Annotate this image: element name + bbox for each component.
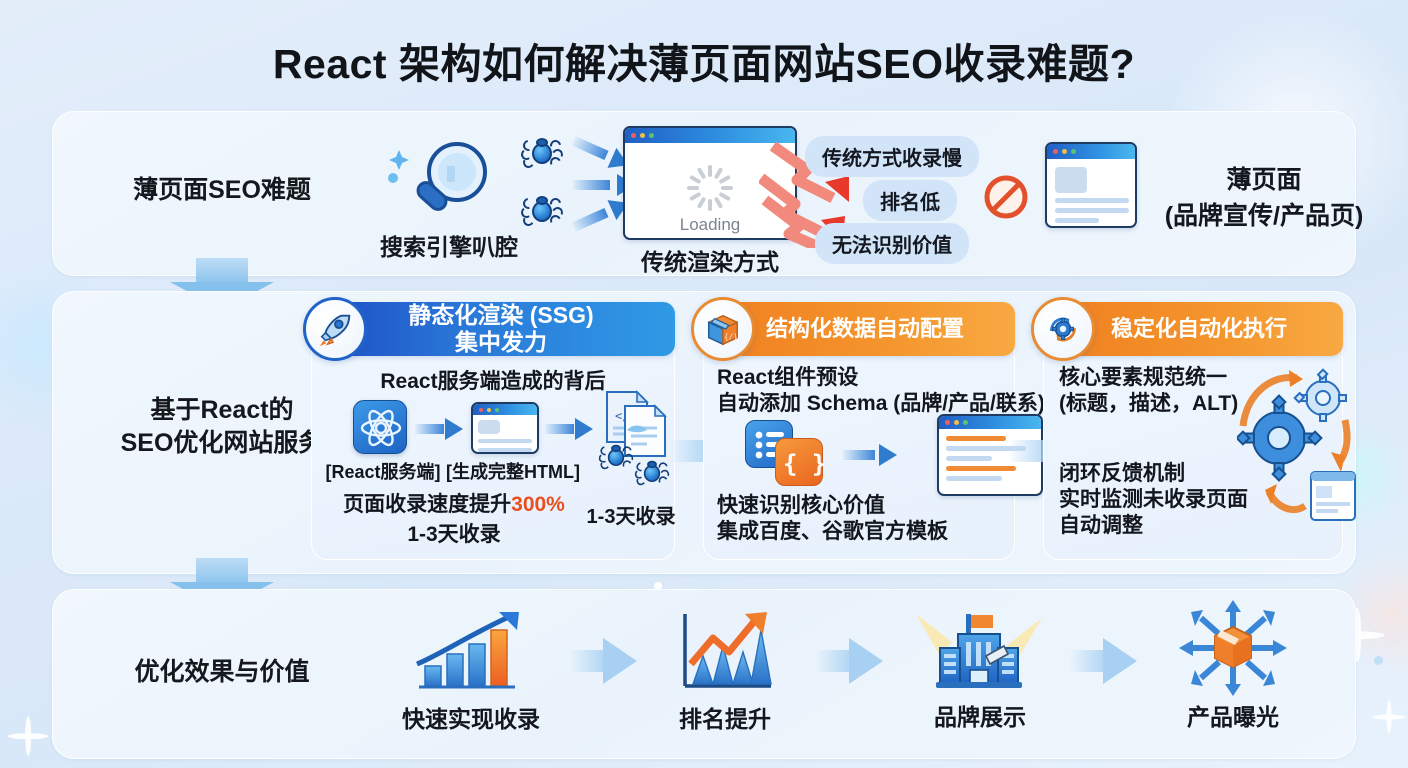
status-badge: 无法识别价值 (815, 223, 969, 264)
svg-text:{/}: {/} (724, 332, 738, 341)
thin-page-label-line1: 薄页面 (1149, 160, 1379, 196)
sparkle-decoration (1372, 700, 1406, 734)
package-box-icon: {/} (691, 297, 755, 361)
panel-structured-data-foot-line1: 快速识别核心价值 (717, 492, 885, 520)
panel-structured-data-header: 结构化数据自动配置 (715, 302, 1015, 356)
step-arrow-icon (545, 418, 593, 440)
panel-structured-data-heading-line1: React组件预设 (717, 364, 858, 392)
step-arrow-icon (843, 444, 897, 466)
panel-automation-foot-line2: 实时监测未收录页面 (1059, 486, 1248, 514)
thin-page-label: 薄页面 (品牌宣传/产品页) (1149, 160, 1379, 232)
panel-automation-header-line1: 稳定化自动化执行 (1111, 316, 1287, 341)
panel-ssg-metric-value: 300% (511, 493, 565, 516)
panel-structured-data-header-line1: 结构化数据自动配置 (766, 316, 964, 341)
panel-ssg-metric-sub: 1-3天收录 (319, 518, 589, 548)
panel-ssg-step2-label: [生成完整HTML] (439, 460, 587, 484)
panel-ssg-header: 静态化渲染 (SSG) 集中发力 (327, 302, 675, 356)
panel-automation-heading-line1: 核心要素规范统一 (1059, 364, 1227, 392)
panel-automation-heading-line2: (标题，描述，ALT) (1059, 390, 1238, 418)
generated-html-browser-icon (471, 402, 539, 454)
page-title: React 架构如何解决薄页面网站SEO收录难题? (0, 30, 1408, 90)
sparkle-decoration (8, 716, 48, 756)
json-braces-icon: { } (775, 438, 823, 486)
building-spotlight-icon (883, 602, 1077, 694)
outcome-label: 排名提升 (639, 700, 811, 734)
spider-icon (599, 441, 633, 472)
flow-arrow-right-icon (817, 638, 883, 684)
panel-automation-header: 稳定化自动化执行 (1055, 302, 1343, 356)
panel-ssg-metric: 页面收录速度提升300% 1-3天收录 (319, 488, 589, 548)
outcome-ranking: 排名提升 (639, 608, 811, 734)
panel-ssg-step1-label: [React服务端] (325, 460, 441, 484)
panel-ssg-header-line2: 集中发力 (455, 329, 547, 355)
prohibition-icon (983, 174, 1029, 220)
panel-automation-foot-line1: 闭环反馈机制 (1059, 460, 1185, 488)
row2-label-line2: SEO优化网站服务 (121, 429, 324, 457)
thin-page-browser-icon (1045, 142, 1137, 228)
bar-chart-rising-icon (379, 608, 563, 692)
outcome-label: 品牌展示 (883, 698, 1077, 732)
flow-arrow-right-icon (571, 638, 637, 684)
panel-ssg-header-line1: 静态化渲染 (SSG) (408, 302, 593, 328)
magnifier-icon (383, 136, 513, 228)
panel-structured-data-foot-line2: 集成百度、谷歌官方模板 (717, 518, 948, 546)
step-arrow-icon (415, 418, 463, 440)
flow-arrow-right-icon (1071, 638, 1137, 684)
thin-page-label-line2: (品牌宣传/产品页) (1149, 196, 1379, 232)
outcome-product-exposure: 产品曝光 (1135, 600, 1331, 732)
row-react-seo-service: 基于React的 SEO优化网站服务 静态化渲染 (SSG) 集中发力 Reac… (52, 291, 1356, 574)
panel-automation-foot-line3: 自动调整 (1059, 512, 1143, 540)
browser-caption: 传统渲染方式 (623, 243, 797, 277)
loading-spinner-icon (687, 165, 733, 211)
dot-decoration (1374, 656, 1383, 665)
spider-icon (635, 457, 669, 488)
outcome-label: 产品曝光 (1135, 698, 1331, 732)
loading-text: Loading (680, 215, 741, 235)
panel-ssg-side-note: 1-3天收录 (583, 504, 679, 531)
search-engine-label: 搜索引擎叭腔 (359, 228, 539, 262)
row2-label-line1: 基于React的 (150, 396, 293, 424)
outcome-label: 快速实现收录 (379, 700, 563, 734)
box-radiating-icon (1135, 600, 1331, 696)
panel-ssg-metric-prefix: 页面收录速度提升 (343, 493, 511, 516)
bar-chart-arrow-icon (639, 608, 811, 692)
rocket-icon (303, 297, 367, 361)
status-badge: 排名低 (863, 180, 957, 221)
spider-icon (521, 192, 563, 230)
spider-icon (521, 134, 563, 172)
gear-cycle-illustration (1237, 368, 1357, 548)
react-logo-icon (353, 400, 407, 454)
row-thin-page-problems: 薄页面SEO难题 搜索引擎叭腔 (52, 111, 1356, 276)
row-optimization-value: 优化效果与价值 快速实现收录 (52, 589, 1356, 759)
gear-refresh-icon (1031, 297, 1095, 361)
row3-label: 优化效果与价值 (77, 656, 367, 689)
status-badge: 传统方式收录慢 (805, 136, 979, 177)
row1-label: 薄页面SEO难题 (77, 174, 367, 207)
svg-text:{ }: { } (783, 450, 824, 478)
outcome-indexing: 快速实现收录 (379, 608, 563, 734)
outcome-brand: 品牌展示 (883, 602, 1077, 732)
